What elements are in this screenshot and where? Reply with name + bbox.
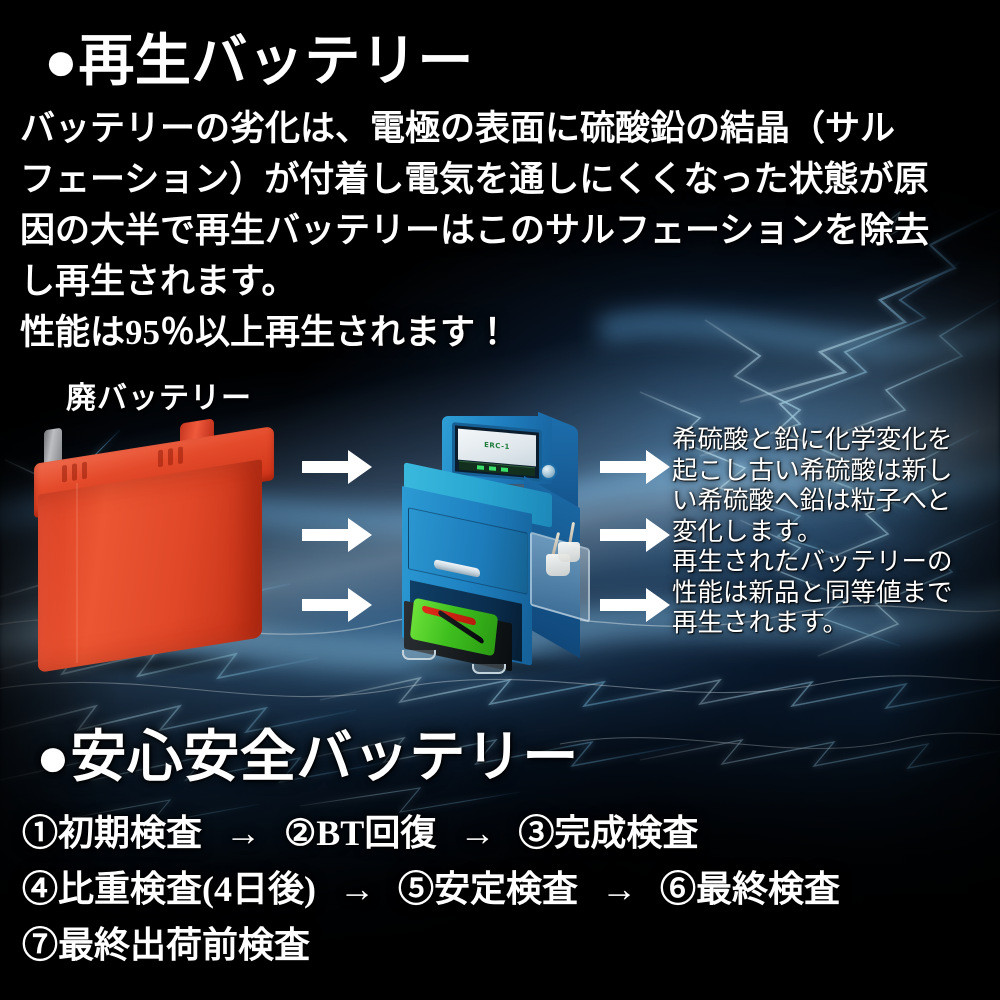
battery-case bbox=[38, 459, 262, 672]
description-line: し再生されます。 bbox=[20, 256, 980, 307]
step-arrow-icon: → bbox=[325, 869, 389, 909]
machine-tray-foot bbox=[472, 664, 506, 674]
inspection-step: ②BT回復 bbox=[284, 813, 436, 853]
arrow-right-icon bbox=[600, 450, 670, 484]
page-title-safe-battery: ●安心安全バッテリー bbox=[36, 712, 579, 793]
description-line: 性能は95％以上再生されます！ bbox=[20, 307, 980, 358]
arrow-right-icon bbox=[302, 588, 372, 622]
waste-battery-label: 廃バッテリー bbox=[66, 373, 252, 417]
description-line: フェーション）が付着し電気を通しにくくなった状態が原 bbox=[20, 154, 980, 205]
process-description-line: 性能は新品と同等値まで bbox=[672, 578, 994, 609]
inspection-step-row: ⑦最終出荷前検査 bbox=[22, 917, 992, 973]
inspection-step: ⑥最終検査 bbox=[660, 869, 840, 909]
process-description-line: い希硫酸へ鉛は粒子へと bbox=[672, 486, 994, 517]
arrow-right-icon bbox=[600, 518, 670, 552]
inspection-step-row: ④比重検査(4日後) → ⑤安定検査 → ⑥最終検査 bbox=[22, 861, 992, 917]
step-arrow-icon: → bbox=[211, 813, 275, 853]
page-title-recycled-battery: ●再生バッテリー bbox=[44, 16, 474, 97]
process-description-line: 再生されたバッテリーの bbox=[672, 547, 994, 578]
machine-power-knob-icon bbox=[540, 463, 557, 480]
inspection-step: ①初期検査 bbox=[22, 813, 202, 853]
inspection-step-row: ①初期検査 → ②BT回復 → ③完成検査 bbox=[22, 805, 992, 861]
recycled-battery-description: バッテリーの劣化は、電極の表面に硫酸鉛の結晶（サル フェーション）が付着し電気を… bbox=[20, 103, 980, 358]
process-description-line: 希硫酸と鉛に化学変化を bbox=[672, 425, 994, 456]
arrow-right-icon bbox=[302, 450, 372, 484]
process-description-line: 変化します。 bbox=[672, 517, 994, 548]
step-arrow-icon: → bbox=[445, 813, 509, 853]
process-description-line: 再生されます。 bbox=[672, 608, 994, 639]
process-description: 希硫酸と鉛に化学変化を 起こし古い希硫酸は新し い希硫酸へ鉛は粒子へと 変化しま… bbox=[672, 425, 994, 639]
waste-battery-illustration bbox=[28, 415, 298, 685]
machine-screen-logo: ERC-1 bbox=[484, 441, 510, 451]
machine-tray-foot bbox=[402, 650, 436, 660]
arrow-right-icon bbox=[302, 518, 372, 552]
inspection-steps-list: ①初期検査 → ②BT回復 → ③完成検査 ④比重検査(4日後) → ⑤安定検査… bbox=[22, 805, 992, 973]
description-line: 因の大半で再生バッテリーはこのサルフェーションを除去 bbox=[20, 205, 980, 256]
process-description-line: 起こし古い希硫酸は新し bbox=[672, 456, 994, 487]
inspection-step: ⑤安定検査 bbox=[398, 869, 578, 909]
description-line: バッテリーの劣化は、電極の表面に硫酸鉛の結晶（サル bbox=[20, 103, 980, 154]
step-arrow-icon: → bbox=[587, 869, 651, 909]
battery-edge-line bbox=[76, 483, 78, 663]
machine-display-screen: ERC-1 bbox=[452, 422, 542, 482]
inspection-step: ③完成検査 bbox=[518, 813, 698, 853]
acid-jar bbox=[558, 542, 580, 562]
inspection-step: ⑦最終出荷前検査 bbox=[22, 925, 310, 965]
inspection-step: ④比重検査(4日後) bbox=[22, 869, 316, 909]
promo-page: ●再生バッテリー バッテリーの劣化は、電極の表面に硫酸鉛の結晶（サル フェーショ… bbox=[0, 0, 1000, 1000]
arrow-right-icon bbox=[600, 588, 670, 622]
regeneration-machine-illustration: ERC-1 bbox=[398, 416, 594, 688]
